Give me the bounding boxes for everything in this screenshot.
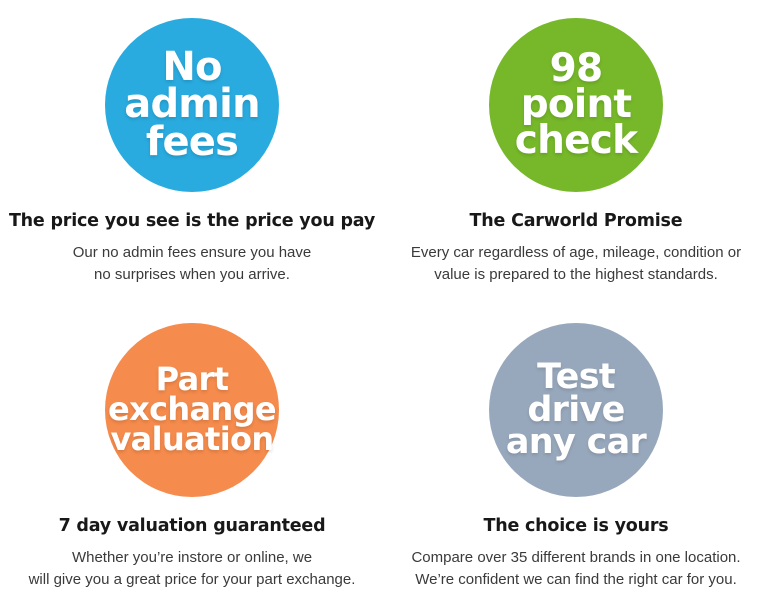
feature-heading-no-admin-fees: The price you see is the price you pay	[3, 212, 381, 231]
feature-heading-test-drive-any-car: The choice is yours	[478, 517, 675, 536]
features-grid: No admin fees The price you see is the p…	[0, 0, 768, 614]
badge-label-test-drive-any-car: Test drive any car	[489, 361, 663, 459]
feature-body-part-exchange-valuation: Whether you’re instore or online, we wil…	[21, 547, 364, 590]
feature-card-part-exchange-valuation: Part exchange valuation 7 day valuation …	[0, 307, 384, 614]
badge-label-part-exchange-valuation: Part exchange valuation	[105, 365, 279, 454]
feature-body-98-point-check: Every car regardless of age, mileage, co…	[403, 242, 749, 285]
badge-label-no-admin-fees: No admin fees	[124, 49, 260, 161]
feature-body-no-admin-fees: Our no admin fees ensure you have no sur…	[65, 242, 319, 285]
badge-98-point-check: 98 point check	[489, 18, 663, 192]
badge-test-drive-any-car: Test drive any car	[489, 323, 663, 497]
badge-no-admin-fees: No admin fees	[105, 18, 279, 192]
badge-label-98-point-check: 98 point check	[515, 51, 638, 160]
feature-card-98-point-check: 98 point check The Carworld Promise Ever…	[384, 0, 768, 307]
feature-card-no-admin-fees: No admin fees The price you see is the p…	[0, 0, 384, 307]
feature-heading-part-exchange-valuation: 7 day valuation guaranteed	[53, 517, 332, 536]
feature-card-test-drive-any-car: Test drive any car The choice is yours C…	[384, 307, 768, 614]
badge-part-exchange-valuation: Part exchange valuation	[105, 323, 279, 497]
feature-body-test-drive-any-car: Compare over 35 different brands in one …	[403, 547, 748, 590]
feature-heading-98-point-check: The Carworld Promise	[464, 212, 689, 231]
